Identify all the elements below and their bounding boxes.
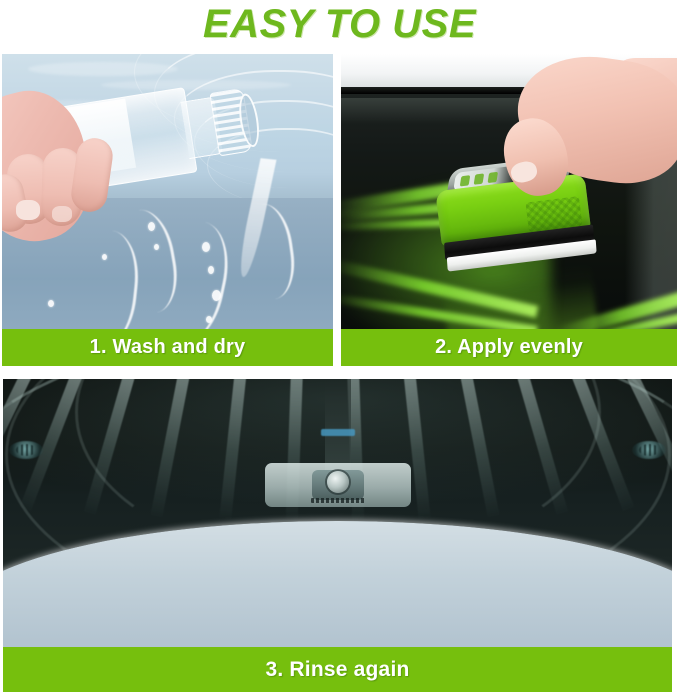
water-droplet bbox=[154, 244, 159, 250]
marking-rings bbox=[16, 444, 36, 456]
ripple-highlight bbox=[28, 62, 178, 76]
water-droplet bbox=[208, 266, 214, 274]
step-3-panel: 3. Rinse again bbox=[3, 379, 672, 692]
right-corner-marking bbox=[632, 441, 666, 459]
label-icon bbox=[460, 175, 471, 186]
step-1-panel: 1. Wash and dry bbox=[2, 54, 333, 366]
step-3-caption: 3. Rinse again bbox=[3, 647, 672, 692]
step-2-photo bbox=[341, 54, 677, 366]
infographic-page: EASY TO USE bbox=[0, 0, 679, 693]
page-title: EASY TO USE bbox=[0, 2, 679, 46]
water-droplet bbox=[148, 222, 155, 231]
water-droplet bbox=[48, 300, 54, 307]
fingernail bbox=[52, 206, 72, 222]
step-1-caption: 1. Wash and dry bbox=[2, 329, 333, 366]
water-droplet bbox=[202, 242, 210, 252]
step-3-photo bbox=[3, 379, 672, 692]
left-corner-marking bbox=[9, 441, 43, 459]
mirror-stem-band bbox=[321, 429, 355, 436]
step-1-photo bbox=[2, 54, 333, 366]
water-droplet bbox=[212, 290, 221, 301]
label-icon bbox=[474, 173, 485, 184]
water-droplet bbox=[102, 254, 107, 260]
camera-lens bbox=[327, 471, 349, 493]
marking-rings bbox=[639, 444, 659, 456]
hand-holding-applicator bbox=[487, 58, 677, 218]
rearview-mirror-mount bbox=[265, 463, 411, 507]
mirror-stem bbox=[325, 379, 351, 471]
step-2-caption: 2. Apply evenly bbox=[341, 329, 677, 366]
fingernail bbox=[16, 200, 40, 220]
water-droplet bbox=[206, 316, 212, 323]
step-2-panel: 2. Apply evenly bbox=[341, 54, 677, 366]
mirror-label bbox=[311, 498, 365, 503]
hand-holding-bottle bbox=[2, 82, 118, 252]
